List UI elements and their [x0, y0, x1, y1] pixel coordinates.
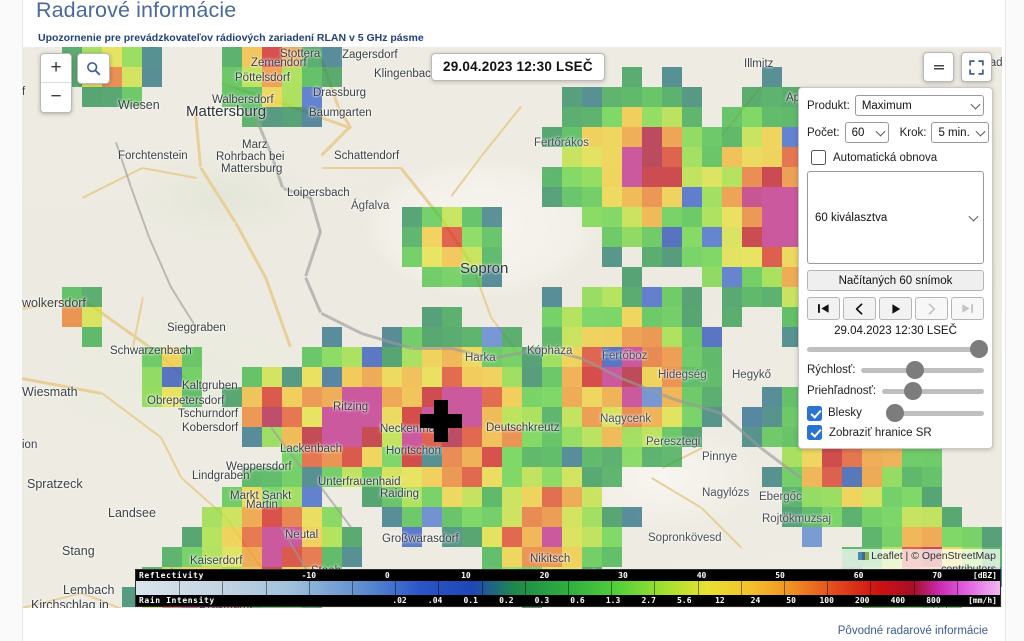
radar-cell	[302, 67, 322, 87]
map-time-banner: 29.04.2023 12:30 LSEČ	[431, 53, 605, 81]
radar-cell	[422, 227, 442, 247]
radar-cell	[742, 207, 762, 227]
radar-cell	[562, 327, 582, 347]
radar-cell	[502, 467, 522, 487]
radar-cell	[522, 467, 542, 487]
radar-cell	[762, 207, 782, 227]
radar-cell	[582, 367, 602, 387]
radar-cell	[182, 347, 202, 367]
skip-first-button[interactable]	[807, 297, 840, 320]
radar-cell	[882, 487, 902, 507]
radar-cell	[342, 367, 362, 387]
radar-cell	[322, 427, 342, 447]
radar-cell	[322, 467, 342, 487]
radar-cell	[542, 547, 562, 567]
radar-cell	[502, 367, 522, 387]
radar-cell	[602, 407, 622, 427]
radar-cell	[142, 347, 162, 367]
radar-cell	[402, 527, 422, 547]
radar-cell	[422, 207, 442, 227]
colorbar-separator	[957, 581, 958, 595]
radar-cell	[562, 127, 582, 147]
product-value: Maximum	[862, 100, 912, 112]
zoom-control[interactable]: + −	[40, 53, 72, 113]
radar-cell	[562, 167, 582, 187]
radar-cell	[262, 487, 282, 507]
radar-cell	[202, 527, 222, 547]
radar-cell	[302, 607, 322, 608]
radar-cell	[702, 267, 722, 287]
radar-cell	[722, 187, 742, 207]
radar-cell	[562, 387, 582, 407]
radar-cell	[682, 87, 702, 107]
radar-cell	[922, 467, 942, 487]
lightning-checkbox[interactable]	[807, 406, 822, 421]
radar-cell	[522, 387, 542, 407]
radar-cell	[462, 327, 482, 347]
radar-cell	[562, 547, 582, 567]
step-value: 5 min.	[938, 127, 969, 139]
radar-cell	[282, 487, 302, 507]
radar-cell	[902, 507, 922, 527]
radar-cell	[602, 287, 622, 307]
radar-cell	[562, 447, 582, 467]
zoom-out-button[interactable]: −	[41, 83, 71, 112]
radar-cell	[642, 187, 662, 207]
radar-cell	[662, 167, 682, 187]
radar-cell	[542, 447, 562, 467]
radar-cell	[682, 207, 702, 227]
radar-cell	[482, 327, 502, 347]
radar-cell	[522, 407, 542, 427]
radar-cell	[622, 347, 642, 367]
radar-cell	[582, 527, 602, 547]
radar-cell	[702, 127, 722, 147]
autorefresh-label: Automatická obnova	[833, 152, 937, 164]
radar-cell	[622, 447, 642, 467]
radar-cell	[122, 87, 142, 107]
radar-cell	[542, 467, 562, 487]
radar-cell	[342, 467, 362, 487]
radar-cell	[822, 487, 842, 507]
radar-cell	[882, 607, 902, 608]
play-button[interactable]	[879, 297, 912, 320]
radar-cell	[762, 187, 782, 207]
step-select[interactable]: 5 min.	[931, 122, 989, 143]
radar-cell	[302, 527, 322, 547]
radar-cell	[822, 507, 842, 527]
lightning-slider-knob[interactable]	[886, 404, 904, 422]
radar-cell	[242, 407, 262, 427]
frames-listbox-value: 60 kiválasztva	[815, 212, 887, 224]
radar-cell	[742, 227, 762, 247]
radar-cell	[202, 607, 222, 608]
radar-cell	[542, 527, 562, 547]
rain-intensity-tick: 800	[926, 595, 940, 606]
radar-cell	[322, 387, 342, 407]
opacity-slider-track	[882, 389, 984, 394]
radar-cell	[62, 307, 82, 327]
radar-cell	[702, 227, 722, 247]
radar-cell	[582, 127, 602, 147]
radar-cell	[502, 547, 522, 567]
radar-cell	[222, 487, 242, 507]
radar-cell	[582, 207, 602, 227]
radar-cell	[662, 207, 682, 227]
radar-cell	[402, 427, 422, 447]
radar-map[interactable]: StotteraZemendorfZagersdorfPöttelsdorfKl…	[22, 47, 1002, 608]
radar-cell	[762, 167, 782, 187]
radar-cell	[382, 387, 402, 407]
radar-cell	[702, 347, 722, 367]
radar-cell	[522, 607, 542, 608]
radar-cell	[582, 187, 602, 207]
radar-cell	[242, 387, 262, 407]
radar-cell	[762, 267, 782, 287]
opacity-slider-knob[interactable]	[904, 382, 922, 400]
radar-cell	[482, 467, 502, 487]
radar-cell	[382, 427, 402, 447]
radar-cell	[602, 227, 622, 247]
radar-cell	[902, 487, 922, 507]
radar-cell	[642, 407, 662, 427]
borders-row: Zobraziť hranice SR	[807, 425, 984, 440]
radar-cell	[422, 367, 442, 387]
reflectivity-tick: 60	[854, 570, 864, 581]
radar-cell	[522, 547, 542, 567]
radar-cell	[242, 527, 262, 547]
radar-cell	[622, 187, 642, 207]
radar-cell	[742, 187, 762, 207]
radar-cell	[602, 327, 622, 347]
radar-cell	[522, 527, 542, 547]
colorbar-separator	[309, 581, 310, 595]
radar-cell	[422, 507, 442, 527]
radar-cell	[482, 527, 502, 547]
radar-cell	[902, 447, 922, 467]
radar-cell	[802, 507, 822, 527]
count-select[interactable]: 60	[845, 122, 889, 143]
radar-cell	[702, 147, 722, 167]
radar-cell	[882, 447, 902, 467]
radar-cell	[342, 387, 362, 407]
original-radar-info-link[interactable]: Pôvodné radarové informácie	[838, 625, 988, 637]
radar-cell	[682, 367, 702, 387]
radar-cell	[162, 607, 182, 608]
step-forward-button[interactable]	[915, 297, 948, 320]
colorbar-separator	[784, 581, 785, 595]
radar-control-panel[interactable]: Produkt: Maximum Počet: 60 Krok: 5 min.	[798, 87, 993, 449]
rain-intensity-tick: 5.6	[677, 595, 691, 606]
radar-cell	[702, 327, 722, 347]
radar-cell	[582, 447, 602, 467]
colorbar-separator	[266, 581, 267, 595]
speed-label: Rýchlosť:	[807, 364, 855, 376]
rain-intensity-tick: 0.1	[463, 595, 477, 606]
radar-cell	[702, 367, 722, 387]
radar-cell	[582, 287, 602, 307]
radar-cell	[862, 447, 882, 467]
radar-cell	[542, 507, 562, 527]
radar-cell	[282, 367, 302, 387]
colorbar-separator	[482, 581, 483, 595]
radar-cell	[502, 527, 522, 547]
radar-cell	[642, 127, 662, 147]
radar-cell	[442, 527, 462, 547]
radar-cell	[662, 127, 682, 147]
radar-cell	[142, 387, 162, 407]
reflectivity-name: Reflectivity	[139, 570, 204, 581]
radar-cell	[722, 247, 742, 267]
radar-cell	[142, 607, 162, 608]
play-icon	[890, 303, 902, 315]
radar-cell	[542, 427, 562, 447]
radar-cell	[662, 447, 682, 467]
radar-cell	[362, 347, 382, 367]
frame-slider[interactable]	[807, 340, 984, 358]
radar-cell	[462, 467, 482, 487]
radar-cell	[762, 247, 782, 267]
radar-cell	[642, 167, 662, 187]
radar-cell	[162, 387, 182, 407]
radar-cell	[382, 507, 402, 527]
radar-cell	[762, 287, 782, 307]
radar-cell	[862, 507, 882, 527]
radar-cell	[722, 267, 742, 287]
page-subtitle: Upozornenie pre prevádzkovateľov rádiový…	[38, 32, 424, 44]
radar-cell	[402, 347, 422, 367]
radar-cell	[482, 447, 502, 467]
radar-cell	[322, 47, 342, 67]
radar-cell	[562, 467, 582, 487]
search-button[interactable]	[77, 53, 110, 84]
radar-cell	[662, 287, 682, 307]
radar-cell	[242, 87, 262, 107]
radar-cell	[362, 447, 382, 467]
radar-cell	[482, 267, 502, 287]
radar-cell	[702, 187, 722, 207]
radar-cell	[922, 527, 942, 547]
radar-cell	[182, 387, 202, 407]
product-row: Produkt: Maximum	[807, 95, 984, 116]
radar-cell	[682, 407, 702, 427]
radar-cell	[802, 527, 822, 547]
radar-cell	[422, 347, 442, 367]
radar-cell	[582, 407, 602, 427]
radar-cell	[222, 67, 242, 87]
load-frames-button[interactable]: Načítaných 60 snímok	[807, 270, 984, 291]
radar-cell	[262, 47, 282, 67]
radar-cell	[682, 167, 702, 187]
colorbar-gradient	[136, 581, 1000, 595]
colorbar-separator	[395, 581, 396, 595]
speed-slider-knob[interactable]	[906, 361, 924, 379]
radar-cell	[182, 547, 202, 567]
radar-cell	[562, 367, 582, 387]
frame-slider-knob[interactable]	[970, 340, 988, 358]
radar-cell	[262, 527, 282, 547]
radar-cell	[662, 347, 682, 367]
opacity-slider[interactable]	[882, 382, 984, 400]
radar-cell	[222, 87, 242, 107]
page-root: Radarové informácie Upozornenie pre prev…	[0, 0, 1024, 641]
radar-cell	[662, 107, 682, 127]
speed-slider[interactable]	[861, 361, 984, 379]
radar-cell	[442, 247, 462, 267]
radar-cell	[522, 427, 542, 447]
radar-cell	[662, 407, 682, 427]
radar-cell	[502, 487, 522, 507]
radar-cell	[302, 407, 322, 427]
radar-cell	[442, 327, 462, 347]
radar-cell	[262, 67, 282, 87]
radar-cell	[602, 467, 622, 487]
autorefresh-checkbox[interactable]	[811, 150, 826, 165]
rain-intensity-tick: 100	[819, 595, 833, 606]
radar-cell	[682, 427, 702, 447]
radar-cell	[302, 467, 322, 487]
radar-cell	[762, 87, 782, 107]
colorbar-separator	[741, 581, 742, 595]
radar-cell	[622, 127, 642, 147]
radar-cell	[462, 207, 482, 227]
radar-cell	[442, 267, 462, 287]
radar-cell	[602, 527, 622, 547]
radar-cell	[442, 367, 462, 387]
rain-intensity-tick: 400	[891, 595, 905, 606]
step-label: Krok:	[900, 127, 927, 139]
radar-cell	[462, 427, 482, 447]
radar-cell	[282, 87, 302, 107]
radar-cell	[442, 207, 462, 227]
radar-cell	[442, 467, 462, 487]
opacity-label: Priehľadnosť:	[807, 385, 876, 397]
fullscreen-button[interactable]	[961, 52, 992, 82]
radar-cell	[102, 87, 122, 107]
lightning-slider[interactable]	[886, 404, 984, 422]
radar-cell	[642, 427, 662, 447]
radar-cell	[242, 367, 262, 387]
radar-cell	[942, 507, 962, 527]
radar-cell	[542, 287, 562, 307]
radar-cell	[202, 547, 222, 567]
radar-cell	[642, 107, 662, 127]
radar-cell	[662, 67, 682, 87]
radar-cell	[282, 107, 302, 127]
radar-cell	[302, 387, 322, 407]
radar-cell	[682, 127, 702, 147]
borders-checkbox[interactable]	[807, 425, 822, 440]
radar-cell	[302, 47, 322, 67]
radar-cell	[802, 447, 822, 467]
radar-cell	[762, 427, 782, 447]
radar-cell	[802, 487, 822, 507]
radar-cell	[762, 107, 782, 127]
radar-cell	[302, 347, 322, 367]
reflectivity-tick: 20	[540, 570, 550, 581]
radar-cell	[642, 287, 662, 307]
radar-cell	[262, 547, 282, 567]
radar-cell	[522, 367, 542, 387]
radar-cell	[142, 367, 162, 387]
chevron-down-icon	[875, 126, 885, 136]
rain-intensity-scale-footer: Rain Intensity .02.040.10.20.30.61.32.75…	[136, 595, 1000, 606]
radar-cell	[282, 407, 302, 427]
colorbar-separator	[222, 581, 223, 595]
radar-cell	[742, 147, 762, 167]
radar-cell	[322, 547, 342, 567]
radar-cell	[842, 507, 862, 527]
radar-cell	[542, 387, 562, 407]
radar-cell	[622, 207, 642, 227]
radar-cell	[602, 307, 622, 327]
frames-listbox[interactable]: 60 kiválasztva	[807, 171, 984, 264]
radar-cell	[242, 427, 262, 447]
radar-cell	[322, 67, 342, 87]
product-select[interactable]: Maximum	[855, 95, 984, 116]
radar-cell	[702, 207, 722, 227]
radar-cell	[642, 227, 662, 247]
colorbar-separator	[438, 581, 439, 595]
product-label: Produkt:	[807, 100, 850, 112]
radar-cell	[222, 507, 242, 527]
radar-cell	[382, 367, 402, 387]
radar-cell	[602, 147, 622, 167]
radar-cell	[442, 447, 462, 467]
radar-cell	[482, 507, 502, 527]
lightning-label: Blesky	[828, 407, 880, 419]
zoom-in-button[interactable]: +	[41, 54, 71, 83]
radar-cell	[482, 547, 502, 567]
radar-cell	[622, 307, 642, 327]
radar-cell	[582, 467, 602, 487]
radar-cell	[442, 487, 462, 507]
leaflet-flag-icon	[858, 552, 869, 560]
rain-intensity-name: Rain Intensity	[139, 595, 215, 606]
radar-cell	[762, 387, 782, 407]
radar-cell	[82, 327, 102, 347]
attribution-leaflet[interactable]: Leaflet	[871, 550, 903, 562]
radar-cell	[242, 487, 262, 507]
radar-cell	[402, 407, 422, 427]
radar-cell	[762, 147, 782, 167]
radar-cell	[242, 467, 262, 487]
radar-cell	[622, 267, 642, 287]
radar-cell	[502, 427, 522, 447]
step-back-button[interactable]	[843, 297, 876, 320]
opacity-row: Priehľadnosť:	[807, 382, 984, 400]
layers-button[interactable]	[923, 52, 954, 82]
radar-cell	[762, 67, 782, 87]
radar-cell	[582, 107, 602, 127]
radar-cell	[522, 447, 542, 467]
radar-cell	[602, 247, 622, 267]
radar-cell	[642, 367, 662, 387]
radar-cell	[422, 487, 442, 507]
radar-cell	[722, 287, 742, 307]
radar-cell	[242, 607, 262, 608]
radar-cell	[262, 87, 282, 107]
radar-cell	[922, 607, 942, 608]
rain-intensity-tick: .02	[392, 595, 406, 606]
radar-cell	[422, 247, 442, 267]
radar-cell	[542, 187, 562, 207]
borders-label: Zobraziť hranice SR	[829, 427, 932, 439]
colorbar-separator	[698, 581, 699, 595]
radar-cell	[562, 527, 582, 547]
skip-last-button[interactable]	[951, 297, 984, 320]
reflectivity-unit: [dBZ]	[973, 570, 997, 581]
